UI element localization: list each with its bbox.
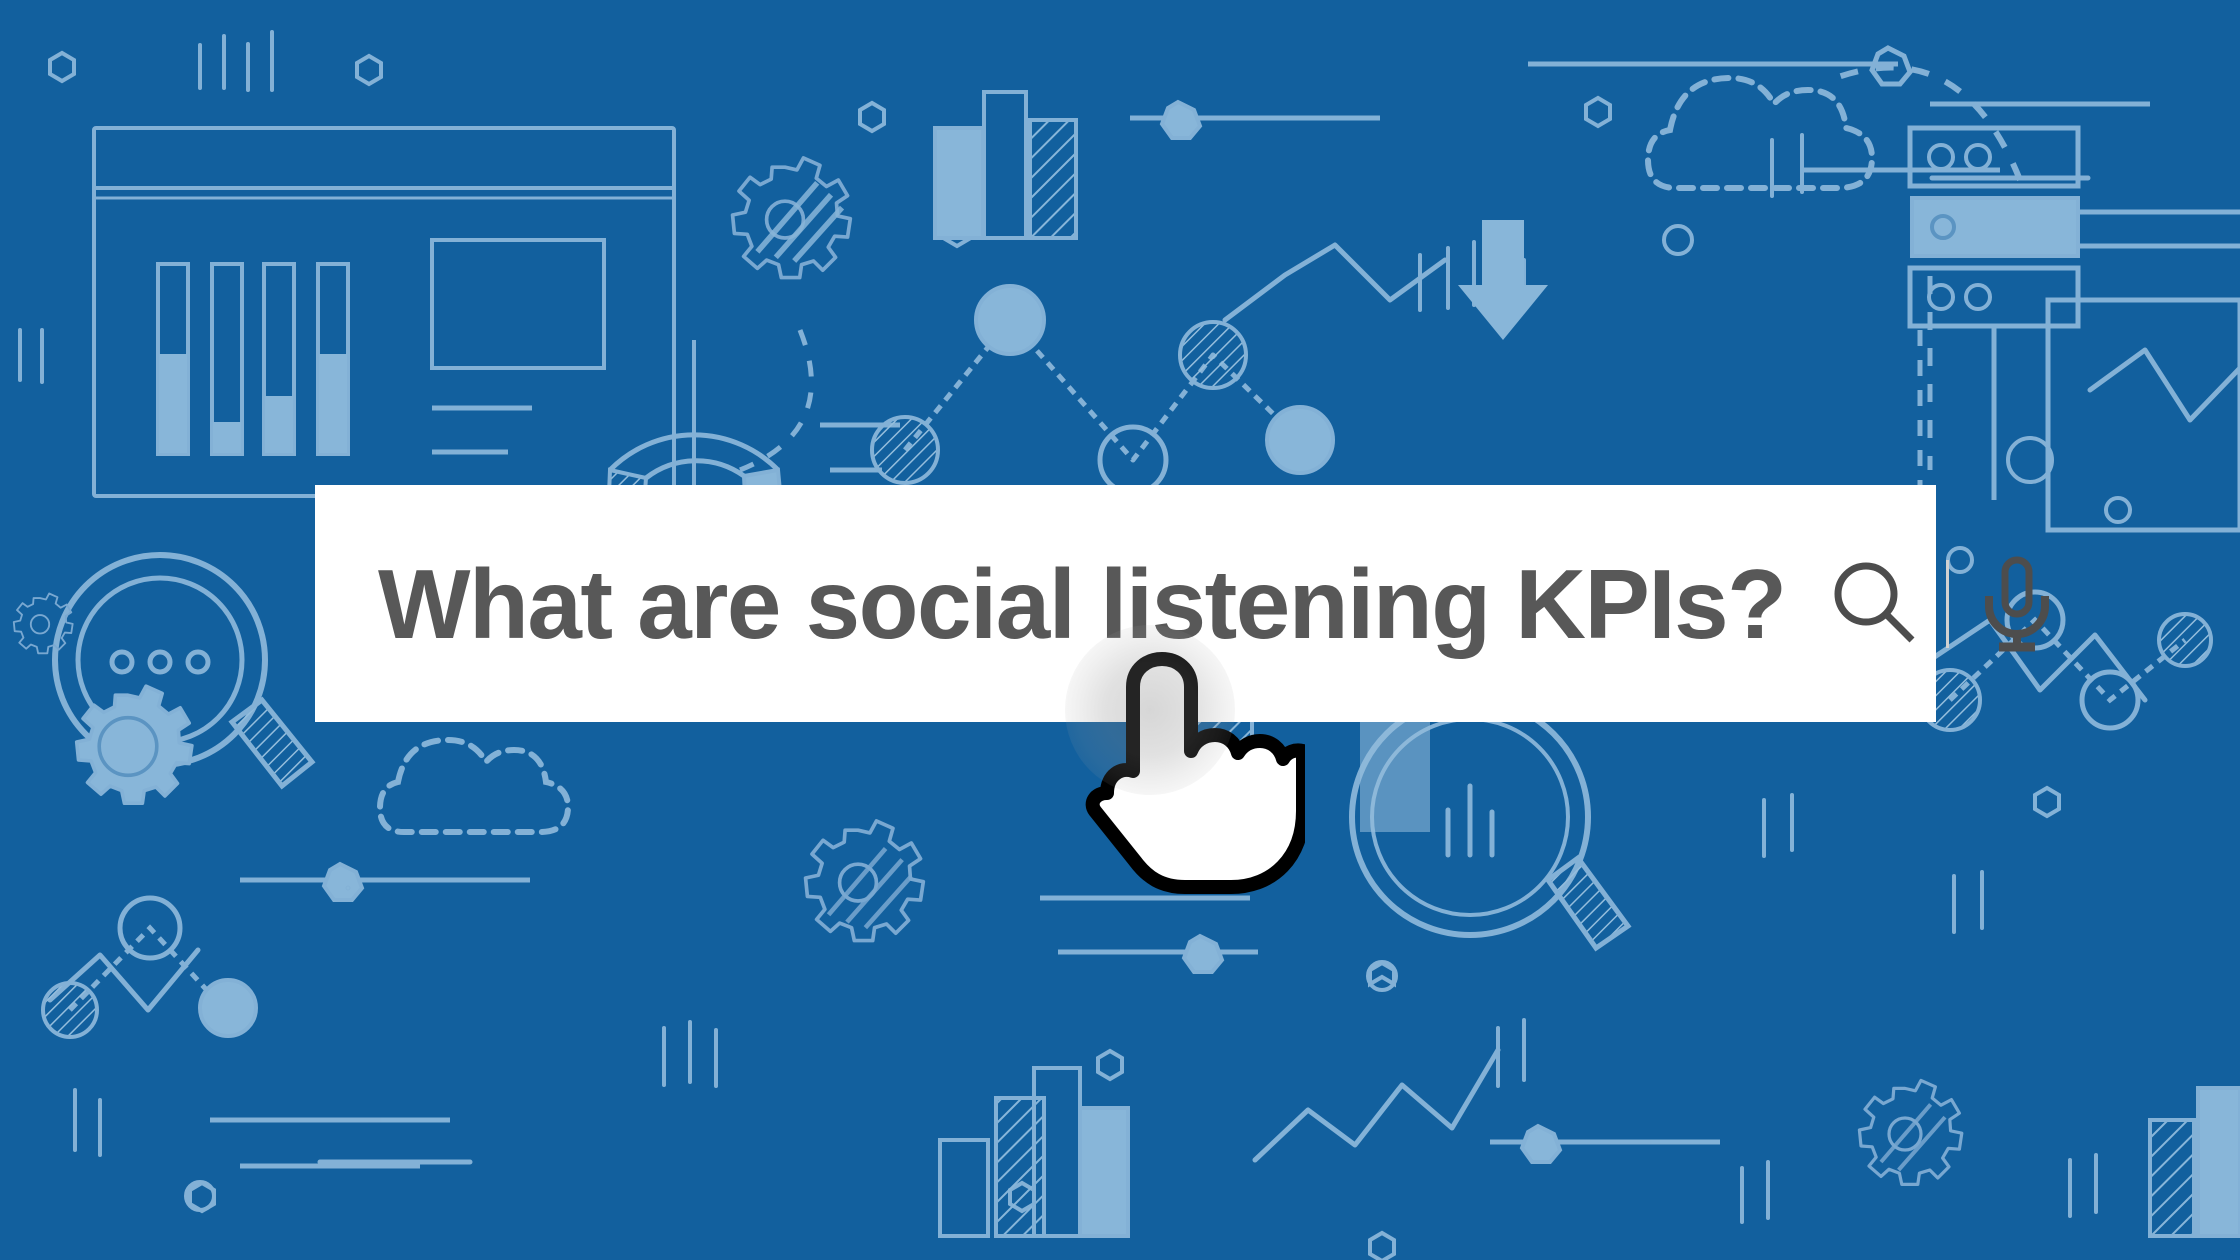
voice-search-button[interactable] <box>1969 552 2065 656</box>
magnifier-with-bars-icon <box>1352 699 1628 948</box>
search-input[interactable]: What are social listening KPIs? <box>378 555 1786 653</box>
magnifier-with-dots-icon <box>55 555 312 786</box>
search-button[interactable] <box>1822 552 1926 656</box>
action-divider <box>1946 560 1949 648</box>
server-rack-icon <box>1910 128 2240 500</box>
gear-cog-outline-icon <box>14 593 73 653</box>
banner-stage: What are social listening KPIs? <box>0 0 2240 1260</box>
panel-right <box>2048 300 2240 530</box>
gear-cog-icon <box>733 158 851 278</box>
gear-cog-icon-right <box>1859 1080 1961 1184</box>
bar-chart-bottom-right <box>2150 1088 2240 1236</box>
download-arrow-icon <box>1458 220 1548 340</box>
network-scatter-chart <box>872 286 1333 493</box>
cloud-icon-2 <box>380 740 568 832</box>
search-actions <box>1822 552 2065 656</box>
cloud-icon <box>1648 78 1872 188</box>
search-bar[interactable]: What are social listening KPIs? <box>315 485 1936 722</box>
bar-chart-top <box>935 92 1076 238</box>
bar-chart-behind-cursor <box>1190 700 1430 850</box>
network-scatter-chart-bottom <box>43 898 256 1037</box>
gear-cog-filled-icon <box>77 686 192 803</box>
dashed-arc <box>740 68 2020 471</box>
magnifier-search-icon <box>1822 552 1926 656</box>
bar-chart-bottom <box>940 1068 1128 1236</box>
browser-window-dashboard <box>94 128 674 496</box>
gear-cog-hatched-icon <box>806 821 924 941</box>
microphone-voice-search-icon <box>1969 552 2065 656</box>
